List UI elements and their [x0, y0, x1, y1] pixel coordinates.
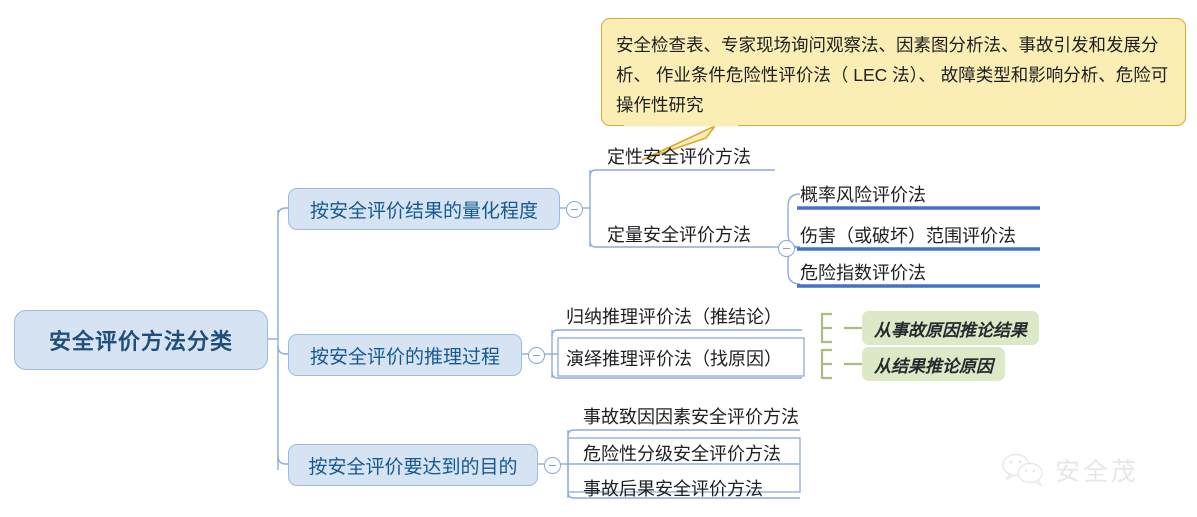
- leaf-label: 定性安全评价方法: [607, 147, 751, 167]
- wechat-icon: [1000, 452, 1046, 488]
- root-node[interactable]: 安全评价方法分类: [14, 310, 268, 370]
- leaf-quantitative-method[interactable]: 定量安全评价方法: [607, 221, 751, 247]
- mindmap-canvas: 安全检查表、专家现场询问观察法、因素图分析法、事故引发和发展分析、 作业条件危险…: [0, 0, 1197, 517]
- collapse-toggle-branch-1[interactable]: [566, 201, 583, 218]
- leaf-hazard-grading[interactable]: 危险性分级安全评价方法: [583, 440, 781, 466]
- collapse-toggle-branch-2[interactable]: [528, 347, 545, 364]
- leaf-label: 危险指数评价法: [800, 263, 926, 283]
- leaf-label: 定量安全评价方法: [607, 225, 751, 245]
- note-label: 从事故原因推论结果: [874, 316, 1027, 341]
- watermark-label: 安全茂: [1055, 452, 1139, 488]
- callout-box: 安全检查表、专家现场询问观察法、因素图分析法、事故引发和发展分析、 作业条件危险…: [601, 18, 1186, 126]
- leaf-label: 危险性分级安全评价方法: [583, 444, 781, 464]
- leaf-label: 归纳推理评价法（推结论）: [566, 307, 782, 327]
- branch-label: 按安全评价的推理过程: [310, 342, 500, 369]
- leaf-label: 事故致因因素安全评价方法: [583, 407, 799, 427]
- leaf-qualitative-method[interactable]: 定性安全评价方法: [607, 143, 751, 169]
- leaf-label: 演绎推理评价法（找原因）: [566, 349, 782, 369]
- callout-text: 安全检查表、专家现场询问观察法、因素图分析法、事故引发和发展分析、 作业条件危险…: [616, 35, 1168, 115]
- branch-node-quantification[interactable]: 按安全评价结果的量化程度: [288, 188, 560, 230]
- note-cause-to-result[interactable]: 从事故原因推论结果: [862, 311, 1039, 345]
- leaf-deductive-reasoning[interactable]: 演绎推理评价法（找原因）: [566, 345, 782, 371]
- leaf-accident-causation[interactable]: 事故致因因素安全评价方法: [583, 403, 799, 429]
- note-result-to-cause[interactable]: 从结果推论原因: [862, 347, 1005, 381]
- branch-label: 按安全评价要达到的目的: [308, 452, 517, 479]
- branch-node-purpose[interactable]: 按安全评价要达到的目的: [288, 444, 538, 486]
- leaf-probabilistic-risk[interactable]: 概率风险评价法: [800, 181, 926, 207]
- leaf-label: 伤害（或破坏）范围评价法: [800, 226, 1016, 246]
- watermark: 安全茂: [1000, 452, 1139, 488]
- leaf-inductive-reasoning[interactable]: 归纳推理评价法（推结论）: [566, 303, 782, 329]
- leaf-accident-consequence[interactable]: 事故后果安全评价方法: [583, 475, 763, 501]
- collapse-toggle-quantitative[interactable]: [778, 240, 795, 257]
- root-label: 安全评价方法分类: [49, 324, 233, 356]
- leaf-damage-range[interactable]: 伤害（或破坏）范围评价法: [800, 222, 1016, 248]
- note-label: 从结果推论原因: [874, 352, 993, 377]
- branch-node-reasoning[interactable]: 按安全评价的推理过程: [288, 334, 522, 376]
- collapse-toggle-branch-3[interactable]: [544, 457, 561, 474]
- leaf-label: 概率风险评价法: [800, 185, 926, 205]
- leaf-hazard-index[interactable]: 危险指数评价法: [800, 259, 926, 285]
- branch-label: 按安全评价结果的量化程度: [310, 196, 538, 223]
- leaf-label: 事故后果安全评价方法: [583, 479, 763, 499]
